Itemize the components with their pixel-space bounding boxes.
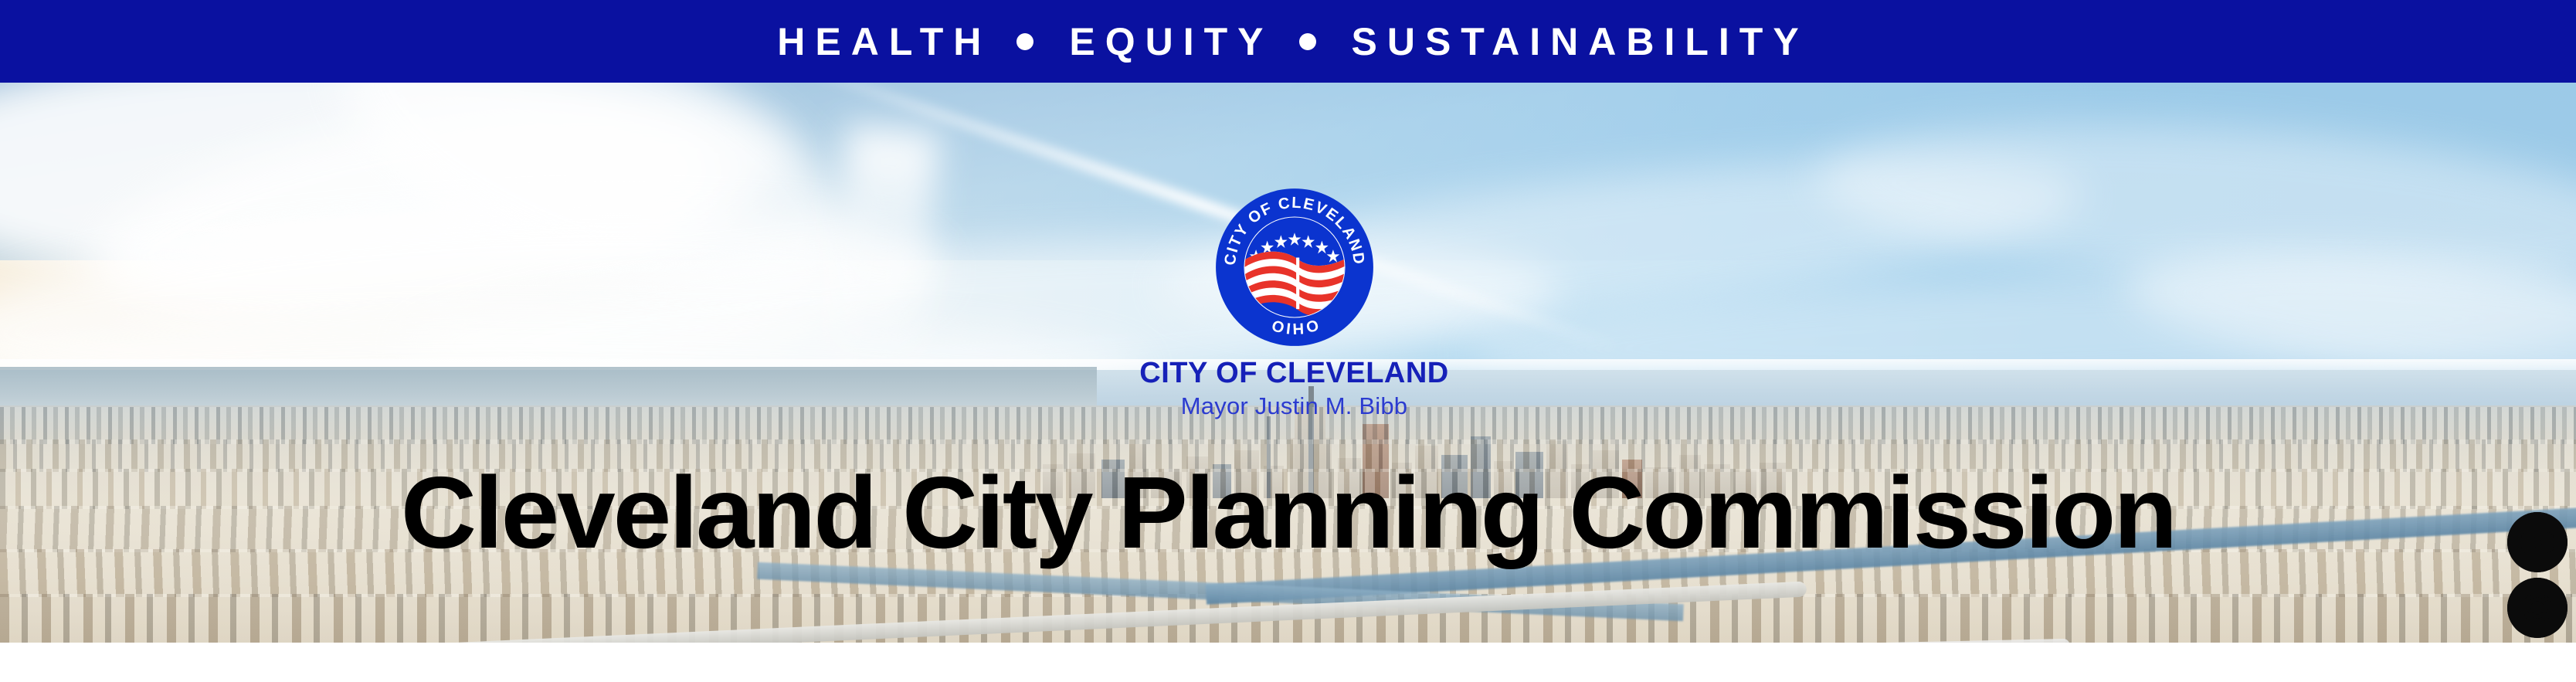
instagram-icon: [2507, 578, 2568, 638]
tagline-word-health: HEALTH: [777, 22, 991, 61]
bullet-dot-icon-2: [1299, 33, 1316, 50]
city-branding-block: CITY OF CLEVELAND OHIO CITY OF CLEVELAND…: [1084, 187, 1505, 419]
tagline-word-equity: EQUITY: [1069, 22, 1273, 61]
city-wordmark: CITY OF CLEVELAND: [1084, 358, 1505, 389]
mayor-name: Mayor Justin M. Bibb: [1084, 393, 1505, 419]
tagline-bar: HEALTH EQUITY SUSTAINABILITY: [0, 0, 2576, 83]
instagram-link[interactable]: [2507, 578, 2568, 638]
hero-banner-image: CITY OF CLEVELAND OHIO CITY OF CLEVELAND…: [0, 83, 2576, 643]
bullet-dot-icon-1: [1016, 33, 1033, 50]
page-root: HEALTH EQUITY SUSTAINABILITY: [0, 0, 2576, 682]
tagline-text: HEALTH EQUITY SUSTAINABILITY: [767, 22, 1808, 61]
city-of-cleveland-seal-icon: CITY OF CLEVELAND OHIO: [1214, 187, 1375, 348]
bottom-white-strip: [0, 643, 2576, 682]
tagline-word-sustainability: SUSTAINABILITY: [1352, 22, 1809, 61]
page-title: Cleveland City Planning Commission: [0, 462, 2576, 564]
